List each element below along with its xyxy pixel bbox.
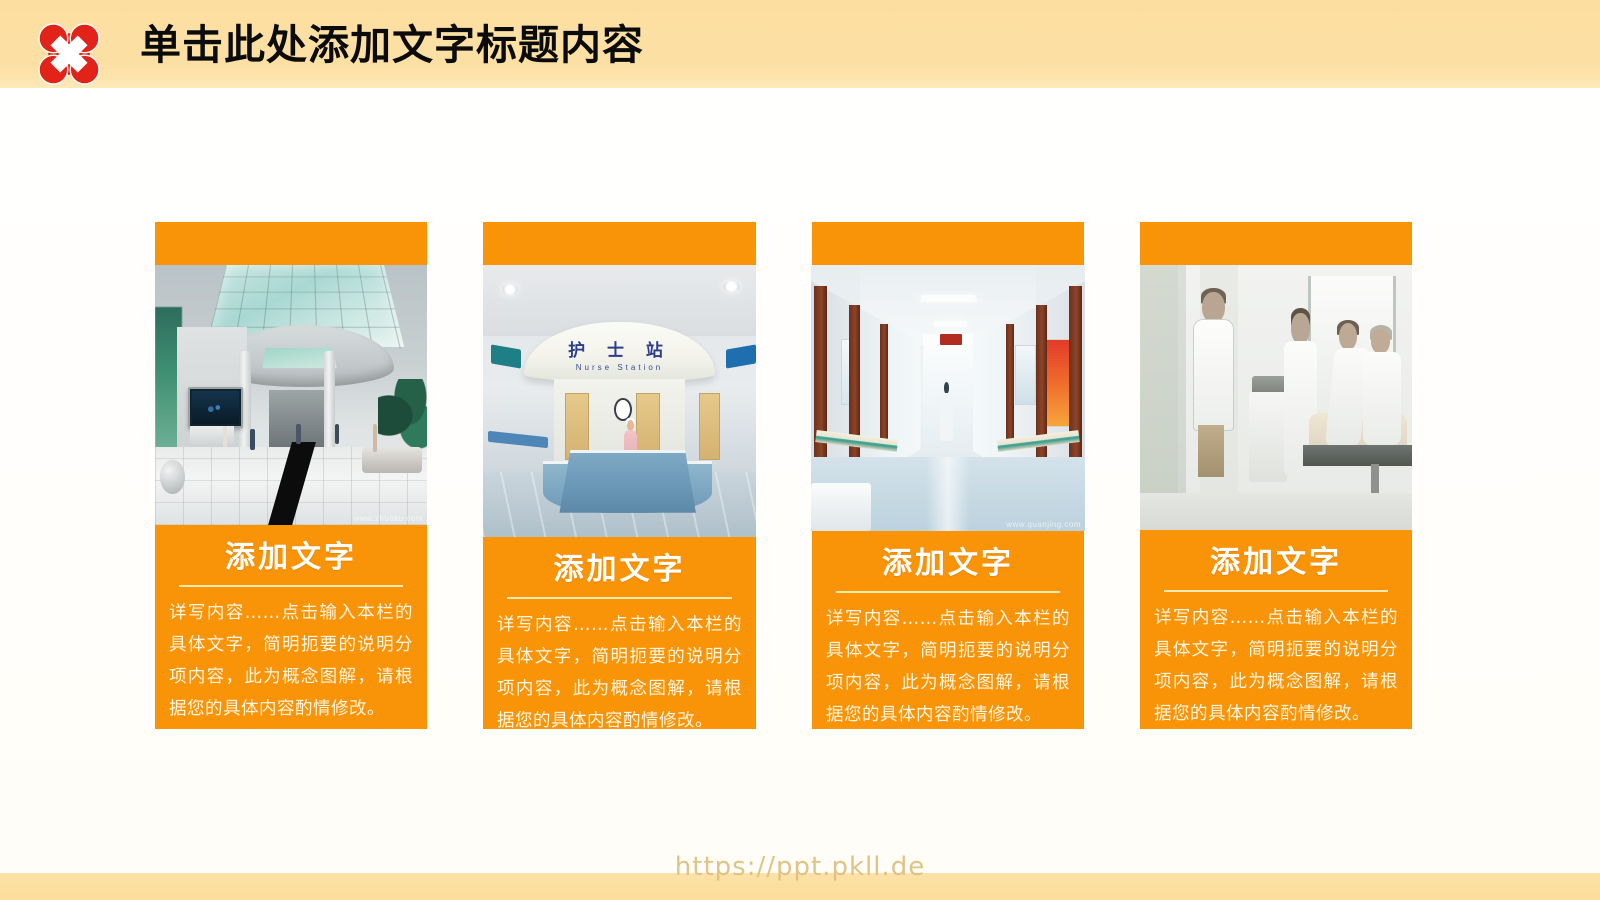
card-3-body: 详写内容……点击输入本栏的具体文字，简明扼要的说明分项内容，此为概念图解，请根据… bbox=[826, 603, 1070, 731]
card-1[interactable]: www.zhuoku.com 添加文字 详写内容……点击输入本栏的具体文字，简明… bbox=[155, 222, 427, 729]
card-4-text-panel: 添加文字 详写内容……点击输入本栏的具体文字，简明扼要的说明分项内容，此为概念图… bbox=[1140, 530, 1412, 729]
card-4-body: 详写内容……点击输入本栏的具体文字，简明扼要的说明分项内容，此为概念图解，请根据… bbox=[1154, 602, 1398, 730]
card-2-image-sign-en: Nurse Station bbox=[483, 363, 756, 372]
page-title: 单击此处添加文字标题内容 bbox=[140, 18, 644, 72]
card-3-heading: 添加文字 bbox=[826, 543, 1070, 585]
card-2-body: 详写内容……点击输入本栏的具体文字，简明扼要的说明分项内容，此为概念图解，请根据… bbox=[497, 609, 742, 737]
slide-canvas: 单击此处添加文字标题内容 bbox=[0, 0, 1600, 900]
card-4[interactable]: 添加文字 详写内容……点击输入本栏的具体文字，简明扼要的说明分项内容，此为概念图… bbox=[1140, 222, 1412, 729]
card-4-heading: 添加文字 bbox=[1154, 542, 1398, 584]
card-1-body: 详写内容……点击输入本栏的具体文字，简明扼要的说明分项内容，此为概念图解，请根据… bbox=[169, 597, 413, 725]
card-1-heading: 添加文字 bbox=[169, 537, 413, 579]
card-1-image: www.zhuoku.com bbox=[155, 265, 427, 525]
card-4-image bbox=[1140, 265, 1412, 530]
footer-watermark-url: https://ppt.pkll.de bbox=[0, 852, 1600, 882]
medical-cross-flower-icon bbox=[20, 8, 118, 100]
card-4-top-bar bbox=[1140, 222, 1412, 265]
card-2-heading: 添加文字 bbox=[497, 549, 742, 591]
card-2-image: 护 士 站 Nurse Station bbox=[483, 265, 756, 537]
card-3-top-bar bbox=[812, 222, 1084, 265]
card-3-image: www.quanjing.com bbox=[811, 265, 1085, 531]
card-3[interactable]: www.quanjing.com 添加文字 详写内容……点击输入本栏的具体文字，… bbox=[812, 222, 1084, 729]
card-1-top-bar bbox=[155, 222, 427, 265]
card-2-divider bbox=[507, 597, 732, 599]
card-3-image-watermark: www.quanjing.com bbox=[1006, 520, 1081, 529]
card-2[interactable]: 护 士 站 Nurse Station 添加文字 详写内容……点击输入本栏的具体… bbox=[483, 222, 756, 729]
card-3-divider bbox=[836, 591, 1060, 593]
card-1-divider bbox=[179, 585, 403, 587]
card-2-text-panel: 添加文字 详写内容……点击输入本栏的具体文字，简明扼要的说明分项内容，此为概念图… bbox=[483, 537, 756, 729]
card-2-top-bar bbox=[483, 222, 756, 265]
card-1-text-panel: 添加文字 详写内容……点击输入本栏的具体文字，简明扼要的说明分项内容，此为概念图… bbox=[155, 525, 427, 729]
card-1-image-watermark: www.zhuoku.com bbox=[354, 514, 423, 523]
card-2-image-sign-cn: 护 士 站 bbox=[483, 336, 756, 361]
card-4-divider bbox=[1164, 590, 1388, 592]
card-3-text-panel: 添加文字 详写内容……点击输入本栏的具体文字，简明扼要的说明分项内容，此为概念图… bbox=[812, 531, 1084, 729]
